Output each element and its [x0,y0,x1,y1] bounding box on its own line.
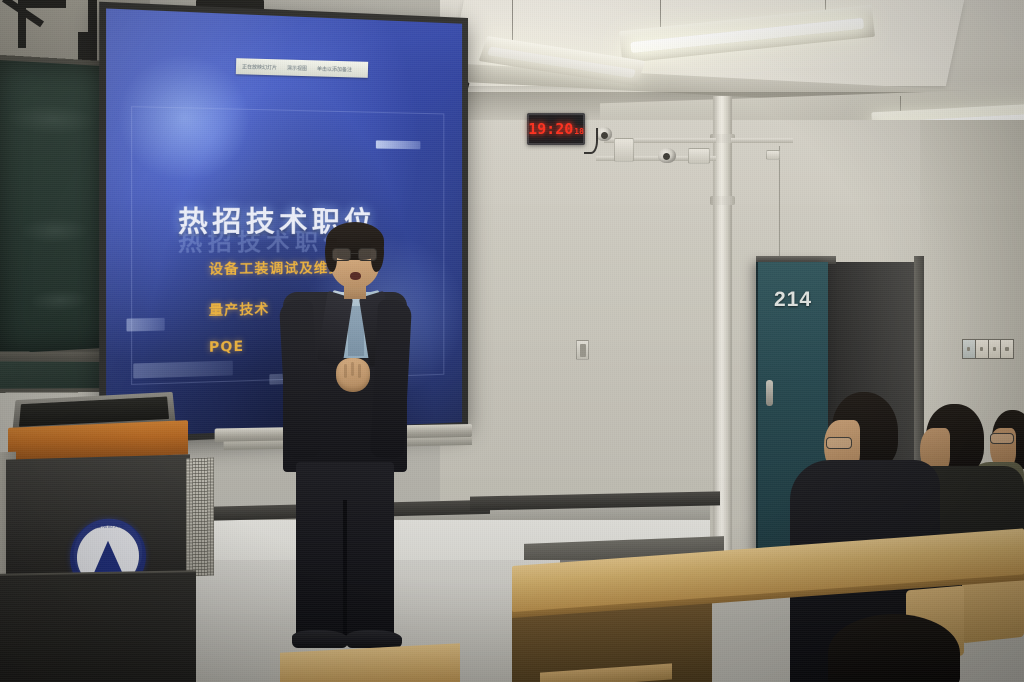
security-camera [658,148,676,163]
glasses-lens-right [358,248,377,261]
presenter-glasses [332,248,379,261]
audience-member-1-glasses [826,437,852,449]
wall-socket[interactable] [1001,340,1013,358]
wall-socket[interactable] [989,340,1001,358]
presenter-mouth [350,272,361,280]
slide-highlight-chip [376,140,421,149]
hanging-cable [779,146,780,256]
digital-wall-clock: 19:20 18 [527,113,585,145]
chalk-smudge [19,217,90,244]
lectern[interactable]: 中国地质大学 CHINA UNIVERSITY OF GEOSCIENCES [0,424,200,682]
camera-lens [601,132,608,139]
audience-member-3-glasses [990,433,1014,444]
door-number-label: 214 [758,288,828,312]
presenter-shoe-right [346,630,402,648]
clock-seconds: 18 [574,127,584,136]
board-mount-bracket [18,0,66,8]
chalk-smudge [29,288,90,313]
finger [358,364,361,378]
presenter-hands [336,358,370,392]
clock-hook [584,128,598,154]
strip-text-mid: 演示视图 [287,64,307,72]
finger [344,364,347,378]
wall-bracket [766,150,780,160]
wall-socket[interactable] [976,340,988,358]
glasses-bridge [351,253,358,254]
camera-lens [663,153,670,160]
strip-text-left: 正在放映幻灯片 [242,63,277,71]
finger [351,362,354,376]
slide-highlight-chip [133,361,233,379]
pipe-branch [731,138,793,143]
chalkboard-lower-panel [0,357,114,393]
pipe-joint [710,196,735,205]
classroom-photo: 19:20 18 214 [0,0,1024,682]
door-handle[interactable] [766,380,773,406]
presenter-shoe-left [292,630,348,648]
security-camera [596,127,612,141]
wall-junction-box [614,138,634,162]
lectern-base [0,572,196,682]
suspension-wire [660,0,661,28]
emblem-arrow-icon [93,540,123,575]
slide-highlight-chip [126,318,164,332]
presenter-leg-separation [343,500,347,640]
lectern-front-panel: 中国地质大学 CHINA UNIVERSITY OF GEOSCIENCES [6,454,190,579]
strip-text-right: 单击以添加备注 [317,65,352,73]
lectern-speaker-grille [186,458,214,577]
light-switch[interactable] [576,340,589,360]
slide-bullet-item: 设备工装调试及维护 [209,257,343,278]
vertical-pipe [713,96,732,556]
chalk-smudge [6,102,97,136]
clock-time: 19:20 [528,120,573,138]
wall-socket[interactable] [963,340,975,358]
wall-speaker [688,148,710,164]
audience-member-foreground-head [828,614,960,682]
wall-socket-row[interactable] [962,339,1014,359]
glasses-lens-left [332,248,351,261]
